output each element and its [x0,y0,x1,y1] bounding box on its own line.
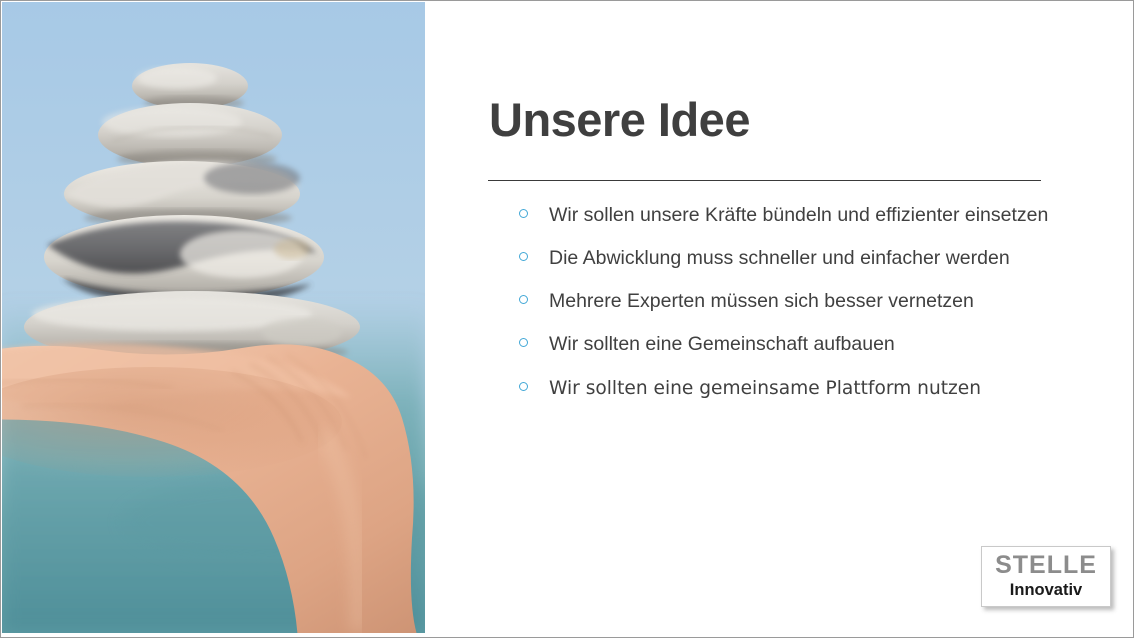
list-item-label: Wir sollten eine gemeinsame Plattform nu… [549,373,1099,404]
list-item-label: Mehrere Experten müssen sich besser vern… [549,286,1099,317]
stones-in-hand-photo [2,2,425,633]
bullet-circle-icon [519,382,528,391]
presentation-slide: Unsere Idee Wir sollen unsere Kräfte bün… [0,0,1134,638]
list-item-label: Wir sollten eine Gemeinschaft aufbauen [549,329,1099,360]
bullet-list: Wir sollen unsere Kräfte bündeln und eff… [519,200,1099,404]
list-item: Mehrere Experten müssen sich besser vern… [519,286,1099,317]
company-logo: STELLE Innovativ [981,546,1111,607]
logo-sub-text: Innovativ [982,579,1110,601]
bullet-circle-icon [519,252,528,261]
page-title: Unsere Idee [489,94,750,146]
bullet-circle-icon [519,209,528,218]
list-item: Wir sollen unsere Kräfte bündeln und eff… [519,200,1099,231]
photo-artwork [2,2,425,633]
logo-main-text: STELLE [982,551,1110,579]
list-item: Wir sollten eine Gemeinschaft aufbauen [519,329,1099,360]
title-divider [488,180,1041,181]
bullet-circle-icon [519,338,528,347]
list-item-label: Die Abwicklung muss schneller und einfac… [549,243,1099,274]
list-item: Wir sollten eine gemeinsame Plattform nu… [519,373,1099,404]
list-item: Die Abwicklung muss schneller und einfac… [519,243,1099,274]
bullet-circle-icon [519,295,528,304]
slide-content: Unsere Idee Wir sollen unsere Kräfte bün… [425,1,1134,638]
list-item-label: Wir sollen unsere Kräfte bündeln und eff… [549,200,1099,231]
